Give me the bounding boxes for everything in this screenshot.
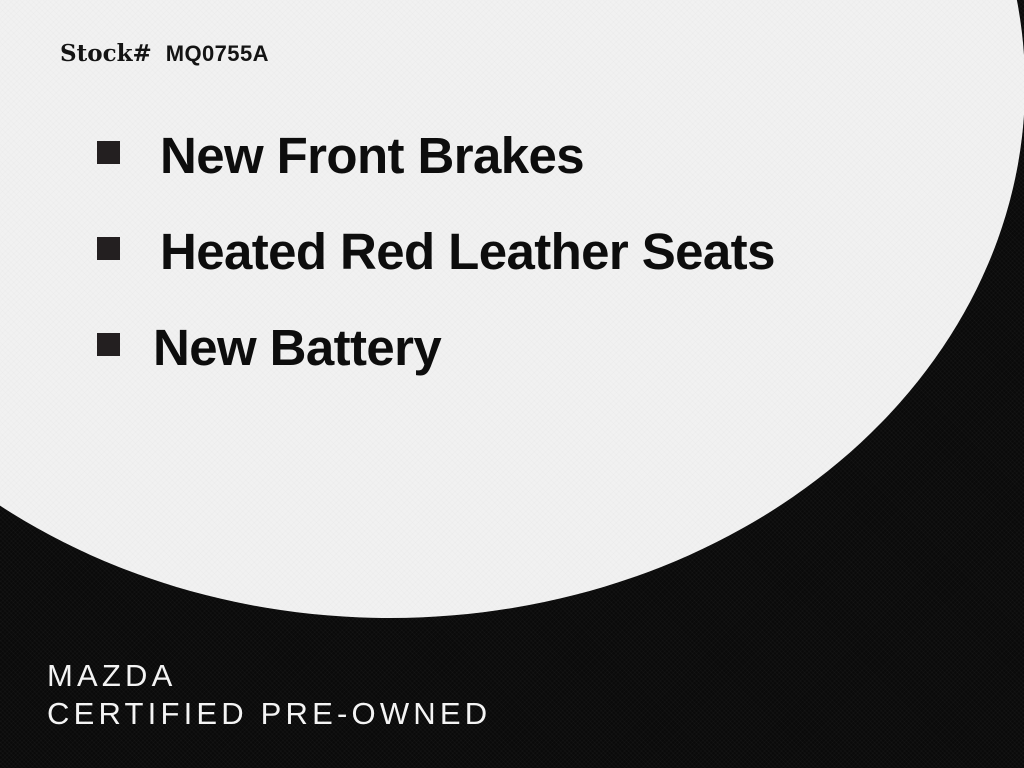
- feature-label: New Front Brakes: [160, 128, 584, 184]
- stock-number-line: Stock# MQ0755A: [60, 40, 269, 67]
- brand-name: MAZDA: [47, 658, 491, 694]
- feature-label: New Battery: [153, 320, 441, 376]
- feature-list-item: Heated Red Leather Seats: [97, 224, 957, 320]
- square-bullet-icon: [97, 141, 120, 164]
- brand-lockup: MAZDA CERTIFIED PRE-OWNED: [47, 658, 491, 732]
- square-bullet-icon: [97, 333, 120, 356]
- vehicle-feature-slide: Stock# MQ0755A New Front Brakes Heated R…: [0, 0, 1024, 768]
- feature-list: New Front Brakes Heated Red Leather Seat…: [97, 128, 957, 416]
- feature-list-item: New Battery: [97, 320, 957, 416]
- feature-label: Heated Red Leather Seats: [160, 224, 775, 280]
- brand-tagline: CERTIFIED PRE-OWNED: [47, 696, 491, 732]
- feature-list-item: New Front Brakes: [97, 128, 957, 224]
- stock-number-label: Stock#: [60, 40, 152, 67]
- stock-number-value: MQ0755A: [166, 41, 269, 67]
- square-bullet-icon: [97, 237, 120, 260]
